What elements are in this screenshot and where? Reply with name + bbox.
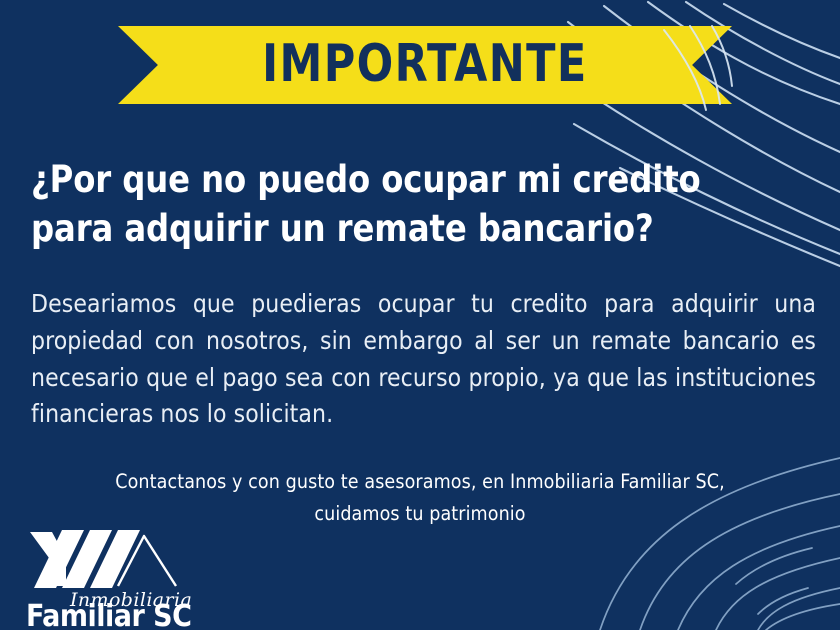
brand-logo: Inmobiliaria Familiar SC (26, 524, 226, 628)
page-title: ¿Por que no puedo ocupar mi credito para… (31, 156, 710, 254)
banner-ribbon: IMPORTANTE (118, 26, 732, 104)
body-paragraph: Deseariamos que puedieras ocupar tu cred… (31, 286, 816, 433)
logo-mark-icon (30, 530, 140, 588)
headline-line-2: para adquirir un remate bancario? (31, 207, 654, 250)
logo-wordmark: Familiar SC (26, 599, 191, 628)
headline-line-1: ¿Por que no puedo ocupar mi credito (31, 158, 701, 201)
cta-line-2: cuidamos tu patrimonio (314, 502, 525, 525)
banner-title: IMPORTANTE (262, 38, 588, 92)
cta-line-1: Contactanos y con gusto te asesoramos, e… (115, 470, 725, 493)
cta-text: Contactanos y con gusto te asesoramos, e… (60, 466, 780, 529)
poster-canvas: IMPORTANTE ¿Por que no puedo ocupar mi c… (0, 0, 840, 630)
banner-ribbon-shape: IMPORTANTE (118, 26, 732, 104)
brand-logo-svg: Inmobiliaria Familiar SC (26, 524, 226, 628)
